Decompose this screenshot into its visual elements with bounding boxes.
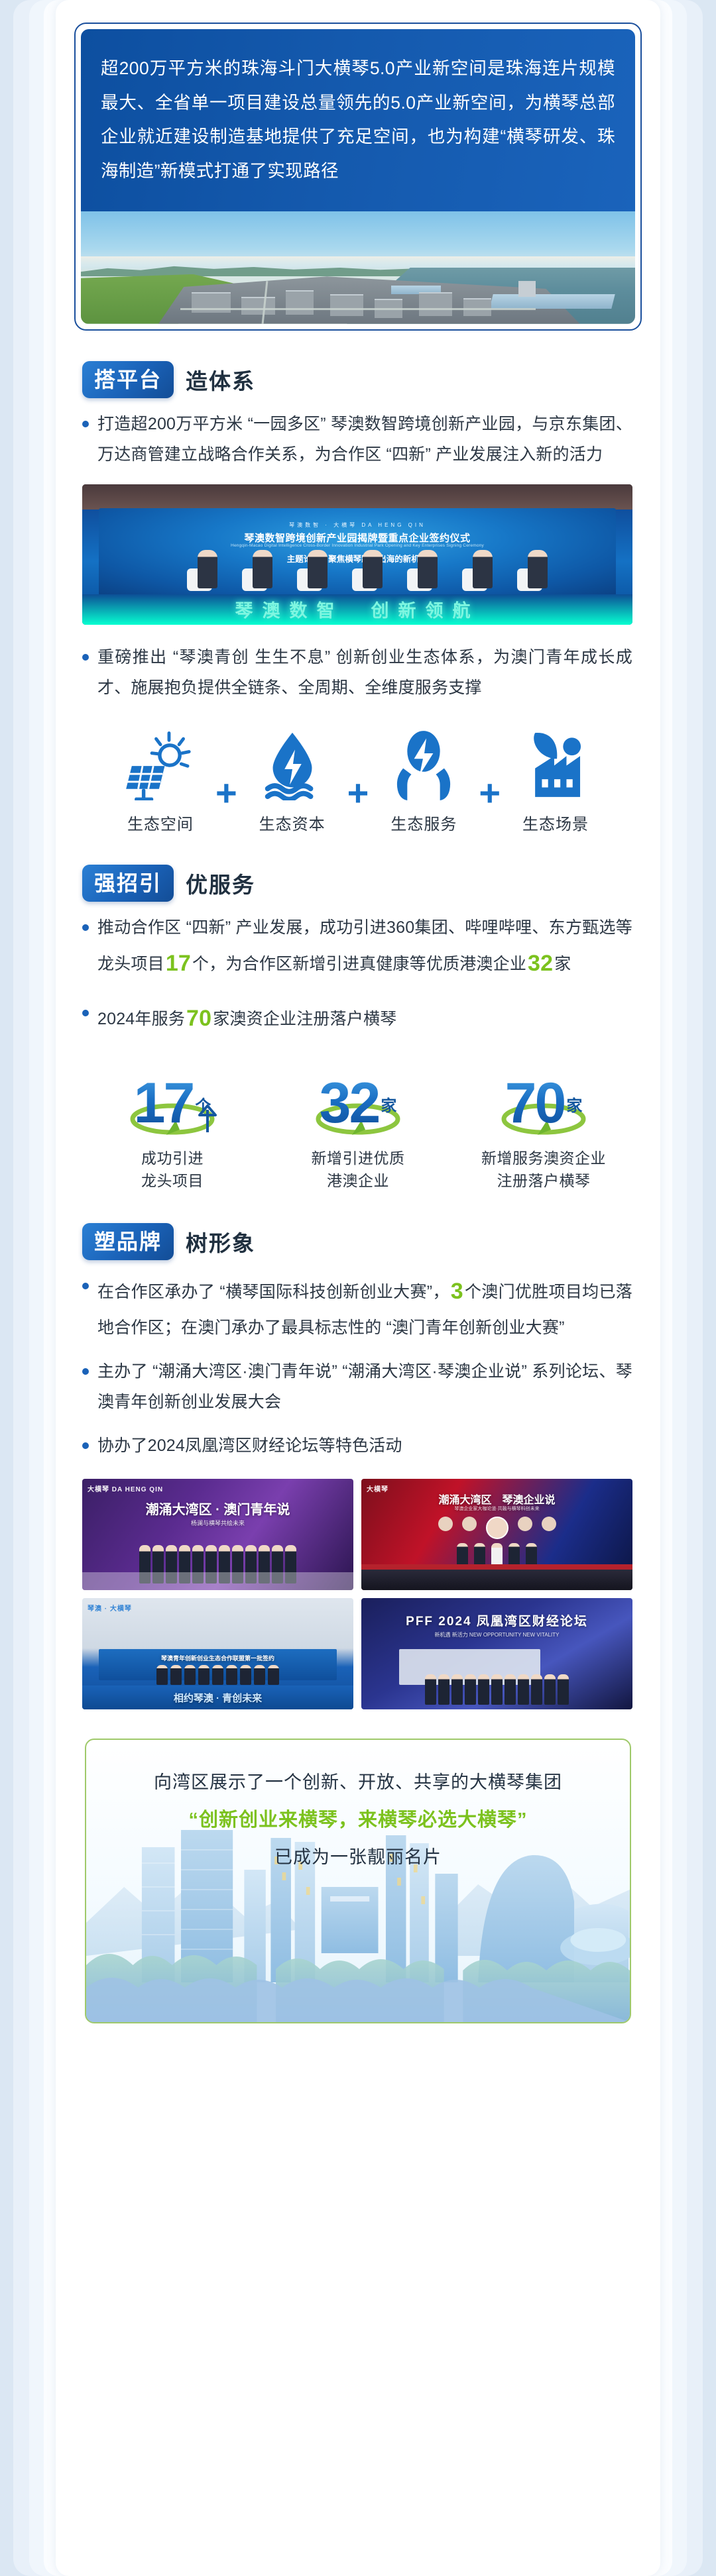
- event-photo-1: 大横琴 潮涌大湾区 琴澳企业说 琴澳企业家大咖论道·共融与横琴科创未来: [361, 1479, 632, 1590]
- bullet-text: 在合作区承办了 “横琴国际科技创新创业大赛”，3个澳门优胜项目均已落地合作区；在…: [97, 1271, 632, 1343]
- stat-label: 新增引进优质港澳企业: [275, 1147, 441, 1193]
- photo-caption: 琴澳青年创新创业生态合作联盟第一批签约: [82, 1654, 353, 1662]
- stat-unit: 个: [195, 1093, 211, 1116]
- ecosystem-item-3: 生态场景: [506, 726, 605, 834]
- photo-logo: 琴澳 · 大横琴: [88, 1603, 132, 1613]
- ecosystem-label: 生态服务: [374, 811, 473, 834]
- screen-title-en: Hengqin-Macao Digital Intelligence Cross…: [99, 543, 616, 548]
- stat-label: 新增服务澳资企业注册落户横琴: [461, 1147, 626, 1193]
- bullet-dot-icon: [82, 1368, 89, 1375]
- stat-label: 成功引进龙头项目: [89, 1147, 255, 1193]
- bullet-dot-icon: [82, 421, 89, 427]
- bullet-text: 推动合作区 “四新” 产业发展，成功引进360集团、哔哩哔哩、东方甄选等龙头项目…: [97, 912, 632, 985]
- section-1-bullets: 打造超200万平方米 “一园多区” 琴澳数智跨境创新产业园，与京东集团、万达商管…: [82, 409, 632, 470]
- photo-logo: 大横琴 DA HENG QIN: [88, 1483, 163, 1493]
- article-page: 超200万平方米的珠海斗门大横琴5.0产业新空间是珠海连片规模最大、全省单一项目…: [56, 0, 660, 2576]
- event-photo-3: PFF 2024 凤凰湾区财经论坛 新机遇 新活力 NEW OPPORTUNIT…: [361, 1598, 632, 1709]
- hero-paragraph: 超200万平方米的珠海斗门大横琴5.0产业新空间是珠海连片规模最大、全省单一项目…: [81, 29, 635, 211]
- section-badge-1: 搭平台: [82, 361, 174, 398]
- ecosystem-item-0: 生态空间: [111, 726, 210, 834]
- bullet-text: 重磅推出 “琴澳青创 生生不息” 创新创业生态体系，为澳门青年成长成才、施展抱负…: [97, 642, 632, 704]
- stat-card-1: 32 家 新增引进优质港澳企业: [275, 1063, 441, 1193]
- bullet-item: 打造超200万平方米 “一园多区” 琴澳数智跨境创新产业园，与京东集团、万达商管…: [82, 409, 632, 470]
- stat-unit: 家: [566, 1093, 582, 1116]
- bullet-item: 2024年服务70家澳资企业注册落户横琴: [82, 998, 632, 1040]
- bullet-item: 协办了2024凤凰湾区财经论坛等特色活动: [82, 1430, 632, 1461]
- section-header-2: 强招引 优服务: [82, 865, 660, 902]
- ecosystem-icon-row: 生态空间 + 生态资本 +: [82, 726, 634, 834]
- event-photo-2: 琴澳 · 大横琴 琴澳青年创新创业生态合作联盟第一批签约 相约琴澳 · 青创未来: [82, 1598, 353, 1709]
- closing-line-2: “创新创业来横琴，来横琴必选大横琴”: [106, 1802, 610, 1839]
- highlight-number: 32: [526, 951, 554, 976]
- section-subtitle-2: 优服务: [186, 867, 255, 899]
- section-badge-3: 塑品牌: [82, 1223, 174, 1260]
- photo-caption: 潮涌大湾区 琴澳企业说: [361, 1491, 632, 1507]
- bullet-text: 打造超200万平方米 “一园多区” 琴澳数智跨境创新产业园，与京东集团、万达商管…: [97, 409, 632, 470]
- section-2-bullets: 推动合作区 “四新” 产业发展，成功引进360集团、哔哩哔哩、东方甄选等龙头项目…: [82, 912, 632, 1040]
- conference-photo: 琴澳数智 · 大横琴 DA HENG QIN 琴澳数智跨境创新产业园揭牌暨重点企…: [82, 484, 632, 625]
- highlight-number: 70: [185, 1006, 213, 1031]
- ecosystem-label: 生态空间: [111, 811, 210, 834]
- event-photo-0: 大横琴 DA HENG QIN 潮涌大湾区 · 澳门青年说 杨澜与横琴共绘未来: [82, 1479, 353, 1590]
- plus-separator-icon: +: [215, 775, 237, 834]
- section-subtitle-3: 树形象: [186, 1226, 255, 1258]
- stage-truss: [82, 484, 632, 510]
- screen-logos: 琴澳数智 · 大横琴 DA HENG QIN: [99, 521, 616, 529]
- section-3-bullets: 在合作区承办了 “横琴国际科技创新创业大赛”，3个澳门优胜项目均已落地合作区；在…: [82, 1271, 632, 1462]
- water-drop-icon: [243, 726, 342, 800]
- ecosystem-label: 生态资本: [243, 811, 342, 834]
- bullet-item: 推动合作区 “四新” 产业发展，成功引进360集团、哔哩哔哩、东方甄选等龙头项目…: [82, 912, 632, 985]
- bullet-dot-icon: [82, 924, 89, 931]
- bullet-item: 重磅推出 “琴澳青创 生生不息” 创新创业生态体系，为澳门青年成长成才、施展抱负…: [82, 642, 632, 704]
- hero-aerial-photo: [81, 211, 635, 324]
- stat-number: 70: [505, 1075, 565, 1132]
- ecosystem-item-1: 生态资本: [243, 726, 342, 834]
- plus-separator-icon: +: [479, 775, 501, 834]
- section-1-bullets-2: 重磅推出 “琴澳青创 生生不息” 创新创业生态体系，为澳门青年成长成才、施展抱负…: [82, 642, 632, 704]
- closing-line-1: 向湾区展示了一个创新、开放、共享的大横琴集团: [106, 1768, 610, 1798]
- bullet-dot-icon: [82, 1283, 89, 1289]
- section-header-1: 搭平台 造体系: [82, 361, 660, 398]
- factory-leaf-icon: [506, 726, 605, 800]
- stat-card-2: 70 家 新增服务澳资企业注册落户横琴: [461, 1063, 626, 1193]
- hero-card: 超200万平方米的珠海斗门大横琴5.0产业新空间是珠海连片规模最大、全省单一项目…: [74, 23, 642, 331]
- ecosystem-label: 生态场景: [506, 811, 605, 834]
- stat-unit: 家: [381, 1093, 396, 1116]
- bullet-item: 主办了 “潮涌大湾区·澳门青年说” “潮涌大湾区·琴澳企业说” 系列论坛、琴澳青…: [82, 1356, 632, 1418]
- stat-number: 32: [320, 1075, 379, 1132]
- stage-floor-text: 琴澳数智 创新领航: [82, 596, 632, 622]
- ecosystem-item-2: 生态服务: [374, 726, 473, 834]
- bullet-text: 主办了 “潮涌大湾区·澳门青年说” “潮涌大湾区·琴澳企业说” 系列论坛、琴澳青…: [97, 1356, 632, 1418]
- photo-subcaption: 杨澜与横琴共绘未来: [82, 1519, 353, 1527]
- stat-card-0: 17 个 成功引进龙头项目: [89, 1063, 255, 1193]
- section-header-3: 塑品牌 树形象: [82, 1223, 660, 1260]
- bullet-dot-icon: [82, 1010, 89, 1016]
- bullet-dot-icon: [82, 654, 89, 661]
- highlight-number: 17: [164, 951, 192, 976]
- bullet-item: 在合作区承办了 “横琴国际科技创新创业大赛”，3个澳门优胜项目均已落地合作区；在…: [82, 1271, 632, 1343]
- stat-number: 17: [134, 1075, 194, 1132]
- stat-cards: 17 个 成功引进龙头项目 32 家 新增引进优质港澳企业: [82, 1063, 634, 1193]
- photo-subcaption: 琴澳企业家大咖论道·共融与横琴科创未来: [361, 1505, 632, 1512]
- highlight-number: 3: [449, 1279, 465, 1304]
- plus-separator-icon: +: [347, 775, 369, 834]
- section-subtitle-1: 造体系: [186, 364, 255, 396]
- closing-quote-box: 向湾区展示了一个创新、开放、共享的大横琴集团 “创新创业来横琴，来横琴必选大横琴…: [85, 1739, 631, 2023]
- photo-subcaption: 相约琴澳 · 青创未来: [82, 1691, 353, 1705]
- event-photo-grid: 大横琴 DA HENG QIN 潮涌大湾区 · 澳门青年说 杨澜与横琴共绘未来 …: [82, 1479, 632, 1709]
- photo-caption: PFF 2024 凤凰湾区财经论坛: [361, 1611, 632, 1629]
- bullet-dot-icon: [82, 1442, 89, 1449]
- closing-line-3: 已成为一张靓丽名片: [106, 1841, 610, 1874]
- bullet-text: 2024年服务70家澳资企业注册落户横琴: [97, 998, 396, 1040]
- bullet-text: 协办了2024凤凰湾区财经论坛等特色活动: [97, 1430, 402, 1461]
- solar-panel-icon: [111, 726, 210, 800]
- section-badge-2: 强招引: [82, 865, 174, 902]
- hands-energy-icon: [374, 726, 473, 800]
- photo-caption: 潮涌大湾区 · 澳门青年说: [82, 1499, 353, 1518]
- photo-subcaption: 新机遇 新活力 NEW OPPORTUNITY NEW VITALITY: [361, 1631, 632, 1638]
